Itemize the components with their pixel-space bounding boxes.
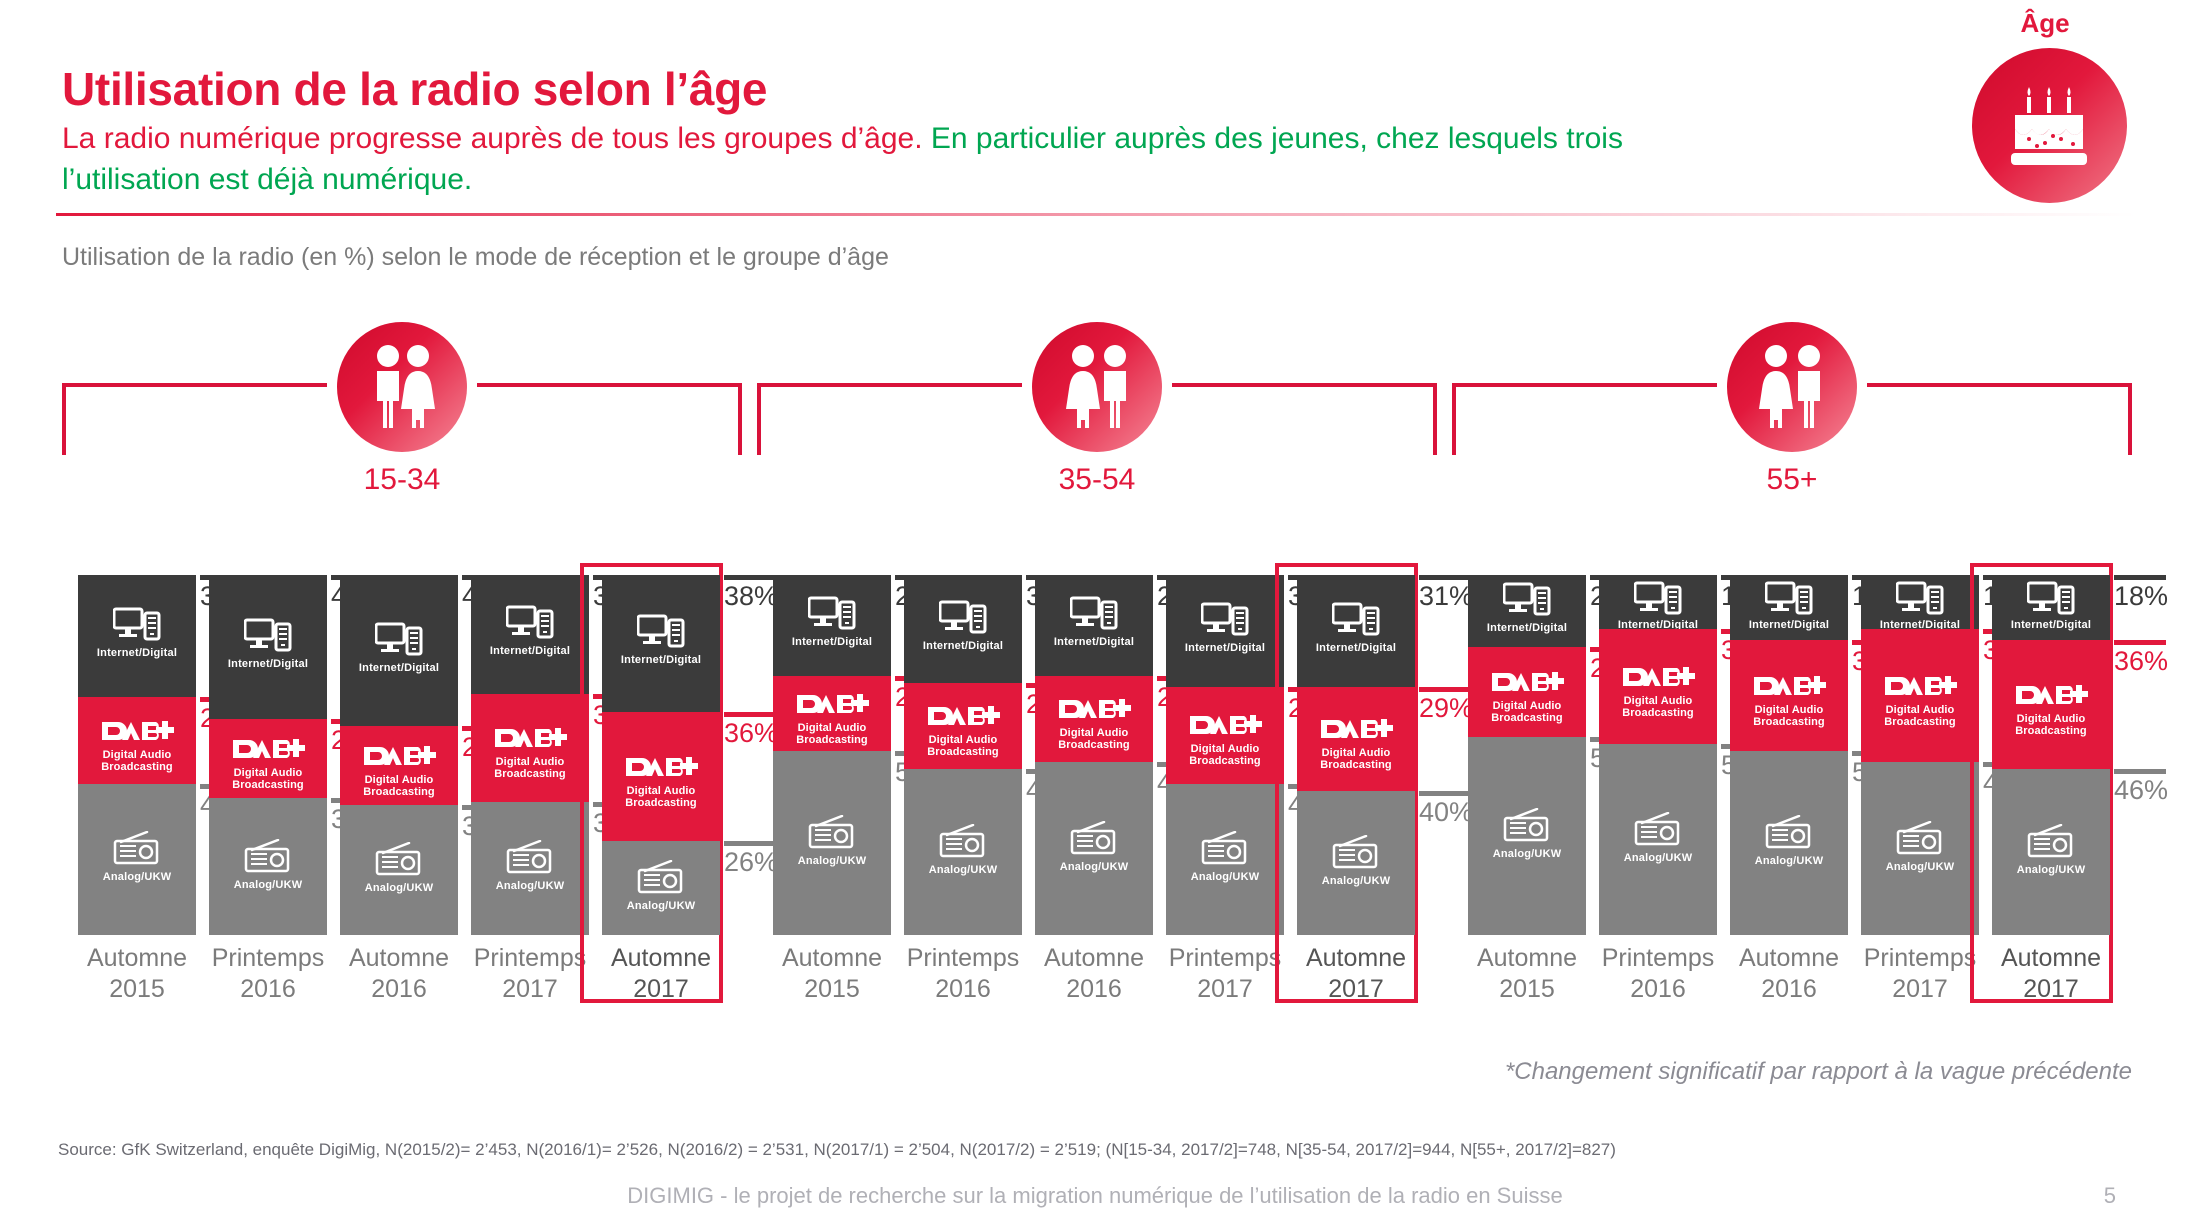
segment-internet[interactable]: Internet/Digital <box>1730 575 1848 640</box>
dab-plus-logo: Digital Audio Broadcasting <box>1490 671 1564 724</box>
dab-plus-logo: Digital Audio Broadcasting <box>795 693 869 746</box>
segment-internet[interactable]: Internet/Digital <box>1861 575 1979 629</box>
segment-analog-caption: Analog/UKW <box>1730 855 1848 867</box>
monitor-phone-icon <box>939 600 987 641</box>
x-axis-label: Automne2017 <box>588 943 734 1005</box>
segment-analog[interactable]: Analog/UKW <box>1730 751 1848 935</box>
value-tick-dab <box>1419 687 1471 692</box>
dab-sublabel: Digital Audio Broadcasting <box>1319 747 1393 771</box>
segment-internet[interactable]: Internet/Digital <box>1297 575 1415 687</box>
dab-sublabel: Digital Audio Broadcasting <box>1621 695 1695 719</box>
value-label-internet: 38% <box>724 581 778 612</box>
radio-icon <box>808 815 856 854</box>
segment-analog[interactable]: Analog/UKW <box>1468 737 1586 935</box>
monitor-phone-icon <box>1765 581 1813 622</box>
subtitle-green-part-line2: l’utilisation est déjà numérique. <box>62 163 472 196</box>
monitor-phone-icon <box>1201 602 1249 643</box>
x-axis-label: Automne2016 <box>1716 943 1862 1005</box>
segment-analog[interactable]: Analog/UKW <box>773 751 891 935</box>
bar-column[interactable]: Internet/Digital Digital Audio Broadcast… <box>78 575 196 935</box>
value-tick-internet <box>724 575 776 580</box>
monitor-phone-icon <box>808 596 856 637</box>
segment-internet-caption: Internet/Digital <box>1730 619 1848 631</box>
bar-column[interactable]: Internet/Digital Digital Audio Broadcast… <box>1035 575 1153 935</box>
segment-dab[interactable]: Digital Audio Broadcasting <box>1599 629 1717 744</box>
chart-caption: Utilisation de la radio (en %) selon le … <box>62 243 889 272</box>
x-axis-label: Automne2015 <box>64 943 210 1005</box>
segment-internet-caption: Internet/Digital <box>1035 636 1153 648</box>
segment-internet-caption: Internet/Digital <box>340 662 458 674</box>
radio-icon <box>1201 831 1249 870</box>
bar-column[interactable]: Internet/Digital Digital Audio Broadcast… <box>1861 575 1979 935</box>
radio-icon <box>1765 815 1813 854</box>
bar-column[interactable]: Internet/Digital Digital Audio Broadcast… <box>340 575 458 935</box>
segment-internet-caption: Internet/Digital <box>1599 619 1717 629</box>
bar-column[interactable]: Internet/Digital Digital Audio Broadcast… <box>1992 575 2110 935</box>
segment-dab[interactable]: Digital Audio Broadcasting <box>340 726 458 805</box>
dab-sublabel: Digital Audio Broadcasting <box>926 734 1000 758</box>
dab-plus-logo: Digital Audio Broadcasting <box>493 727 567 780</box>
segment-internet-caption: Internet/Digital <box>1468 622 1586 634</box>
value-label-analog: 40% <box>1419 797 1473 828</box>
dab-sublabel: Digital Audio Broadcasting <box>100 749 174 773</box>
dab-plus-logo: Digital Audio Broadcasting <box>1752 675 1826 728</box>
dab-sublabel: Digital Audio Broadcasting <box>1883 704 1957 728</box>
segment-internet[interactable]: Internet/Digital <box>209 575 327 719</box>
radio-icon <box>1634 812 1682 851</box>
birthday-cake-icon <box>1972 48 2127 203</box>
group-header-15-34: 15-34 <box>62 318 742 518</box>
value-tick-dab <box>2114 640 2166 645</box>
segment-internet-caption: Internet/Digital <box>1861 619 1979 629</box>
group-header-55plus: 55+ <box>1452 318 2132 518</box>
dab-sublabel: Digital Audio Broadcasting <box>362 774 436 798</box>
age-badge-label: Âge <box>1950 8 2140 39</box>
x-axis-label: Automne2017 <box>1978 943 2124 1005</box>
segment-dab[interactable]: Digital Audio Broadcasting <box>1861 629 1979 762</box>
segment-internet[interactable]: Internet/Digital <box>904 575 1022 683</box>
dab-plus-logo: Digital Audio Broadcasting <box>1188 714 1262 767</box>
segment-internet-caption: Internet/Digital <box>773 636 891 648</box>
group-label-15-34: 15-34 <box>62 463 742 497</box>
segment-analog[interactable]: Analog/UKW <box>1861 762 1979 935</box>
monitor-phone-icon <box>113 607 161 648</box>
dab-plus-logo: Digital Audio Broadcasting <box>926 705 1000 758</box>
bar-column[interactable]: Internet/Digital Digital Audio Broadcast… <box>209 575 327 935</box>
segment-analog-caption: Analog/UKW <box>1297 875 1415 887</box>
segment-dab[interactable]: Digital Audio Broadcasting <box>1035 676 1153 762</box>
dab-sublabel: Digital Audio Broadcasting <box>1490 700 1564 724</box>
radio-icon <box>1332 835 1380 874</box>
monitor-phone-icon <box>1332 602 1380 643</box>
value-label-dab: 29% <box>1419 693 1473 724</box>
x-axis-label: Automne2017 <box>1283 943 1429 1005</box>
segment-internet-caption: Internet/Digital <box>904 640 1022 652</box>
segment-analog[interactable]: Analog/UKW <box>1166 784 1284 935</box>
page-title: Utilisation de la radio selon l’âge <box>62 62 767 116</box>
x-axis-label: Automne2015 <box>1454 943 1600 1005</box>
segment-internet-caption: Internet/Digital <box>1297 642 1415 654</box>
bar-column[interactable]: Internet/Digital Digital Audio Broadcast… <box>773 575 891 935</box>
segment-analog[interactable]: Analog/UKW <box>78 784 196 935</box>
segment-analog-caption: Analog/UKW <box>1861 861 1979 873</box>
dab-plus-logo: Digital Audio Broadcasting <box>2014 684 2088 737</box>
dab-sublabel: Digital Audio Broadcasting <box>1752 704 1826 728</box>
dab-sublabel: Digital Audio Broadcasting <box>795 722 869 746</box>
monitor-phone-icon <box>375 622 423 663</box>
value-label-internet: 18% <box>2114 581 2168 612</box>
segment-internet[interactable]: Internet/Digital <box>78 575 196 697</box>
radio-icon <box>1503 808 1551 847</box>
subtitle-green-part-line1: En particulier auprès des jeunes, chez l… <box>931 122 1623 155</box>
source-note: Source: GfK Switzerland, enquête DigiMig… <box>58 1140 1616 1160</box>
segment-internet-caption: Internet/Digital <box>209 658 327 670</box>
monitor-phone-icon <box>1896 581 1944 622</box>
segment-analog-caption: Analog/UKW <box>1468 848 1586 860</box>
x-axis-label: Printemps2016 <box>195 943 341 1005</box>
page-subtitle: La radio numérique progresse auprès de t… <box>62 118 1962 200</box>
monitor-phone-icon <box>506 605 554 646</box>
segment-dab[interactable]: Digital Audio Broadcasting <box>209 719 327 798</box>
monitor-phone-icon <box>1070 596 1118 637</box>
radio-icon <box>2027 824 2075 863</box>
radio-icon <box>637 860 685 899</box>
dab-sublabel: Digital Audio Broadcasting <box>1057 727 1131 751</box>
segment-dab[interactable]: Digital Audio Broadcasting <box>1297 687 1415 791</box>
value-tick-dab <box>724 712 776 717</box>
dab-plus-logo: Digital Audio Broadcasting <box>624 756 698 809</box>
value-tick-internet <box>1419 575 1471 580</box>
segment-dab[interactable]: Digital Audio Broadcasting <box>1730 640 1848 752</box>
segment-internet-caption: Internet/Digital <box>1992 619 2110 631</box>
group-label-55plus: 55+ <box>1452 463 2132 497</box>
segment-analog-caption: Analog/UKW <box>471 880 589 892</box>
segment-analog-caption: Analog/UKW <box>602 900 720 912</box>
bar-column[interactable]: Internet/Digital Digital Audio Broadcast… <box>1730 575 1848 935</box>
value-tick-analog <box>2114 769 2166 774</box>
segment-internet-caption: Internet/Digital <box>78 647 196 659</box>
dab-plus-logo: Digital Audio Broadcasting <box>1057 698 1131 751</box>
radio-icon <box>244 839 292 878</box>
dab-sublabel: Digital Audio Broadcasting <box>1188 743 1262 767</box>
segment-internet[interactable]: Internet/Digital <box>773 575 891 676</box>
x-axis-label: Automne2016 <box>326 943 472 1005</box>
segment-dab[interactable]: Digital Audio Broadcasting <box>1166 687 1284 784</box>
segment-analog-caption: Analog/UKW <box>1166 871 1284 883</box>
header-divider <box>56 213 2136 216</box>
segment-analog[interactable]: Analog/UKW <box>471 802 589 935</box>
x-axis-label: Printemps2016 <box>1585 943 1731 1005</box>
segment-internet[interactable]: Internet/Digital <box>1599 575 1717 629</box>
slide-root: Utilisation de la radio selon l’âge La r… <box>0 0 2190 1230</box>
value-tick-analog <box>724 841 776 846</box>
segment-analog[interactable]: Analog/UKW <box>1297 791 1415 935</box>
radio-icon <box>506 840 554 879</box>
segment-internet[interactable]: Internet/Digital <box>1992 575 2110 640</box>
segment-analog-caption: Analog/UKW <box>209 879 327 891</box>
group-header-35-54: 35-54 <box>757 318 1437 518</box>
subtitle-red-part: La radio numérique progresse auprès de t… <box>62 122 923 155</box>
radio-icon <box>375 842 423 881</box>
dab-plus-logo: Digital Audio Broadcasting <box>100 720 174 773</box>
segment-analog[interactable]: Analog/UKW <box>1992 769 2110 935</box>
segment-analog-caption: Analog/UKW <box>1599 852 1717 864</box>
value-label-analog: 46% <box>2114 775 2168 806</box>
monitor-phone-icon <box>2027 581 2075 622</box>
bar-column[interactable]: Internet/Digital Digital Audio Broadcast… <box>471 575 589 935</box>
x-axis-label: Automne2016 <box>1021 943 1167 1005</box>
segment-dab[interactable]: Digital Audio Broadcasting <box>1468 647 1586 737</box>
segment-analog[interactable]: Analog/UKW <box>1599 744 1717 935</box>
monitor-phone-icon <box>637 614 685 655</box>
segment-analog-caption: Analog/UKW <box>1992 864 2110 876</box>
dab-plus-logo: Digital Audio Broadcasting <box>362 745 436 798</box>
chart-footnote: *Changement significatif par rapport à l… <box>1505 1058 2132 1086</box>
stacked-bar-chart: Internet/Digital Digital Audio Broadcast… <box>0 575 2190 1015</box>
segment-dab[interactable]: Digital Audio Broadcasting <box>1992 640 2110 770</box>
segment-internet-caption: Internet/Digital <box>602 654 720 666</box>
segment-dab[interactable]: Digital Audio Broadcasting <box>602 712 720 842</box>
bar-column[interactable]: Internet/Digital Digital Audio Broadcast… <box>1468 575 1586 935</box>
two-people-icon <box>1727 322 1857 452</box>
segment-analog[interactable]: Analog/UKW <box>602 841 720 935</box>
segment-internet-caption: Internet/Digital <box>1166 642 1284 654</box>
dab-sublabel: Digital Audio Broadcasting <box>624 785 698 809</box>
dab-sublabel: Digital Audio Broadcasting <box>493 756 567 780</box>
segment-analog[interactable]: Analog/UKW <box>1035 762 1153 935</box>
segment-analog-caption: Analog/UKW <box>78 871 196 883</box>
bar-column[interactable]: Internet/Digital Digital Audio Broadcast… <box>602 575 720 935</box>
value-tick-analog <box>1419 791 1471 796</box>
dab-sublabel: Digital Audio Broadcasting <box>2014 713 2088 737</box>
radio-icon <box>939 824 987 863</box>
segment-dab[interactable]: Digital Audio Broadcasting <box>773 676 891 752</box>
segment-internet-caption: Internet/Digital <box>471 645 589 657</box>
segment-analog-caption: Analog/UKW <box>1035 861 1153 873</box>
monitor-phone-icon <box>244 618 292 659</box>
dab-plus-logo: Digital Audio Broadcasting <box>1883 675 1957 728</box>
segment-dab[interactable]: Digital Audio Broadcasting <box>471 694 589 802</box>
two-people-icon <box>337 322 467 452</box>
segment-internet[interactable]: Internet/Digital <box>1166 575 1284 687</box>
segment-analog[interactable]: Analog/UKW <box>904 769 1022 935</box>
two-people-icon <box>1032 322 1162 452</box>
group-label-35-54: 35-54 <box>757 463 1437 497</box>
monitor-phone-icon <box>1503 582 1551 623</box>
segment-internet[interactable]: Internet/Digital <box>471 575 589 694</box>
segment-analog[interactable]: Analog/UKW <box>340 805 458 935</box>
radio-icon <box>113 831 161 870</box>
x-axis-label: Printemps2016 <box>890 943 1036 1005</box>
segment-internet[interactable]: Internet/Digital <box>340 575 458 726</box>
segment-dab[interactable]: Digital Audio Broadcasting <box>78 697 196 783</box>
value-tick-internet <box>2114 575 2166 580</box>
bar-column[interactable]: Internet/Digital Digital Audio Broadcast… <box>1166 575 1284 935</box>
age-badge: Âge <box>1950 8 2140 198</box>
segment-analog-caption: Analog/UKW <box>904 864 1022 876</box>
value-label-dab: 36% <box>2114 646 2168 677</box>
dab-plus-logo: Digital Audio Broadcasting <box>1319 718 1393 771</box>
radio-icon <box>1070 821 1118 860</box>
value-label-internet: 31% <box>1419 581 1473 612</box>
segment-analog-caption: Analog/UKW <box>340 882 458 894</box>
segment-dab[interactable]: Digital Audio Broadcasting <box>904 683 1022 769</box>
footer-text: DIGIMIG - le projet de recherche sur la … <box>0 1183 2190 1209</box>
segment-internet[interactable]: Internet/Digital <box>1468 575 1586 647</box>
radio-icon <box>1896 821 1944 860</box>
bar-column[interactable]: Internet/Digital Digital Audio Broadcast… <box>1599 575 1717 935</box>
bar-column[interactable]: Internet/Digital Digital Audio Broadcast… <box>1297 575 1415 935</box>
page-number: 5 <box>2104 1183 2116 1209</box>
segment-internet[interactable]: Internet/Digital <box>602 575 720 712</box>
dab-plus-logo: Digital Audio Broadcasting <box>231 738 305 791</box>
segment-analog[interactable]: Analog/UKW <box>209 798 327 935</box>
segment-analog-caption: Analog/UKW <box>773 855 891 867</box>
x-axis-label: Automne2015 <box>759 943 905 1005</box>
dab-sublabel: Digital Audio Broadcasting <box>231 767 305 791</box>
segment-internet[interactable]: Internet/Digital <box>1035 575 1153 676</box>
dab-plus-logo: Digital Audio Broadcasting <box>1621 666 1695 719</box>
monitor-phone-icon <box>1634 581 1682 622</box>
bar-column[interactable]: Internet/Digital Digital Audio Broadcast… <box>904 575 1022 935</box>
